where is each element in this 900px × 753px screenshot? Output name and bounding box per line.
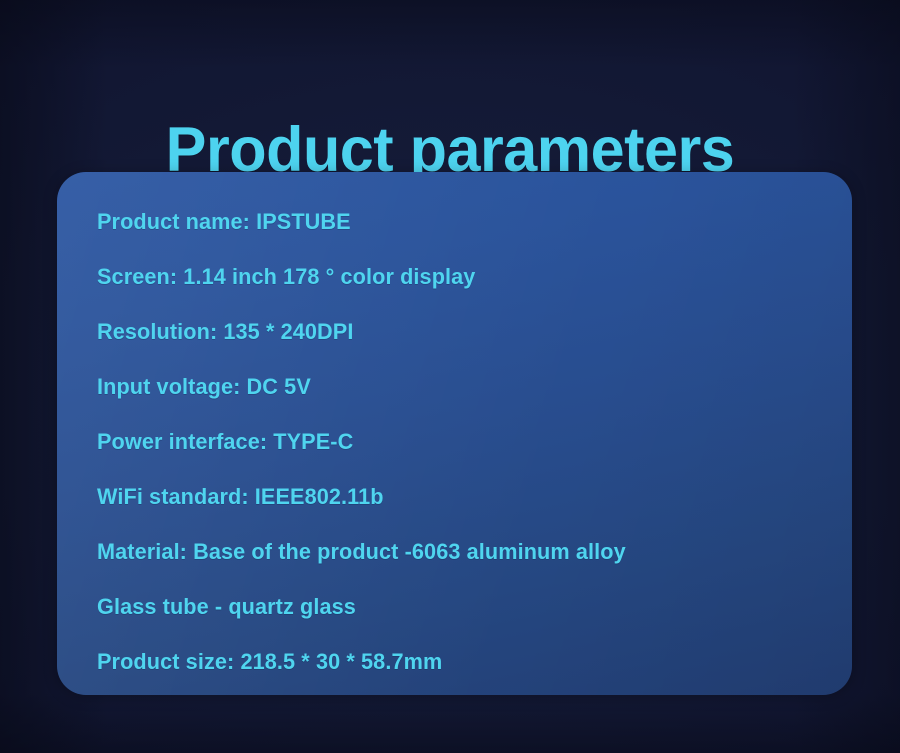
list-item: Input voltage: DC 5V bbox=[97, 359, 801, 414]
specifications-list: Product name: IPSTUBE Screen: 1.14 inch … bbox=[97, 194, 812, 689]
specifications-card: Product name: IPSTUBE Screen: 1.14 inch … bbox=[57, 172, 852, 695]
list-item: Screen: 1.14 inch 178 ° color display bbox=[97, 249, 801, 304]
product-parameters-screen: Product parameters Product name: IPSTUBE… bbox=[0, 0, 900, 753]
list-item: Product size: 218.5 * 30 * 58.7mm bbox=[97, 634, 801, 689]
list-item: Glass tube - quartz glass bbox=[97, 579, 801, 634]
list-item: Material: Base of the product -6063 alum… bbox=[97, 524, 801, 579]
list-item: Resolution: 135 * 240DPI bbox=[97, 304, 801, 359]
list-item: Power interface: TYPE-C bbox=[97, 414, 801, 469]
list-item: WiFi standard: IEEE802.11b bbox=[97, 469, 801, 524]
list-item: Product name: IPSTUBE bbox=[97, 194, 801, 249]
